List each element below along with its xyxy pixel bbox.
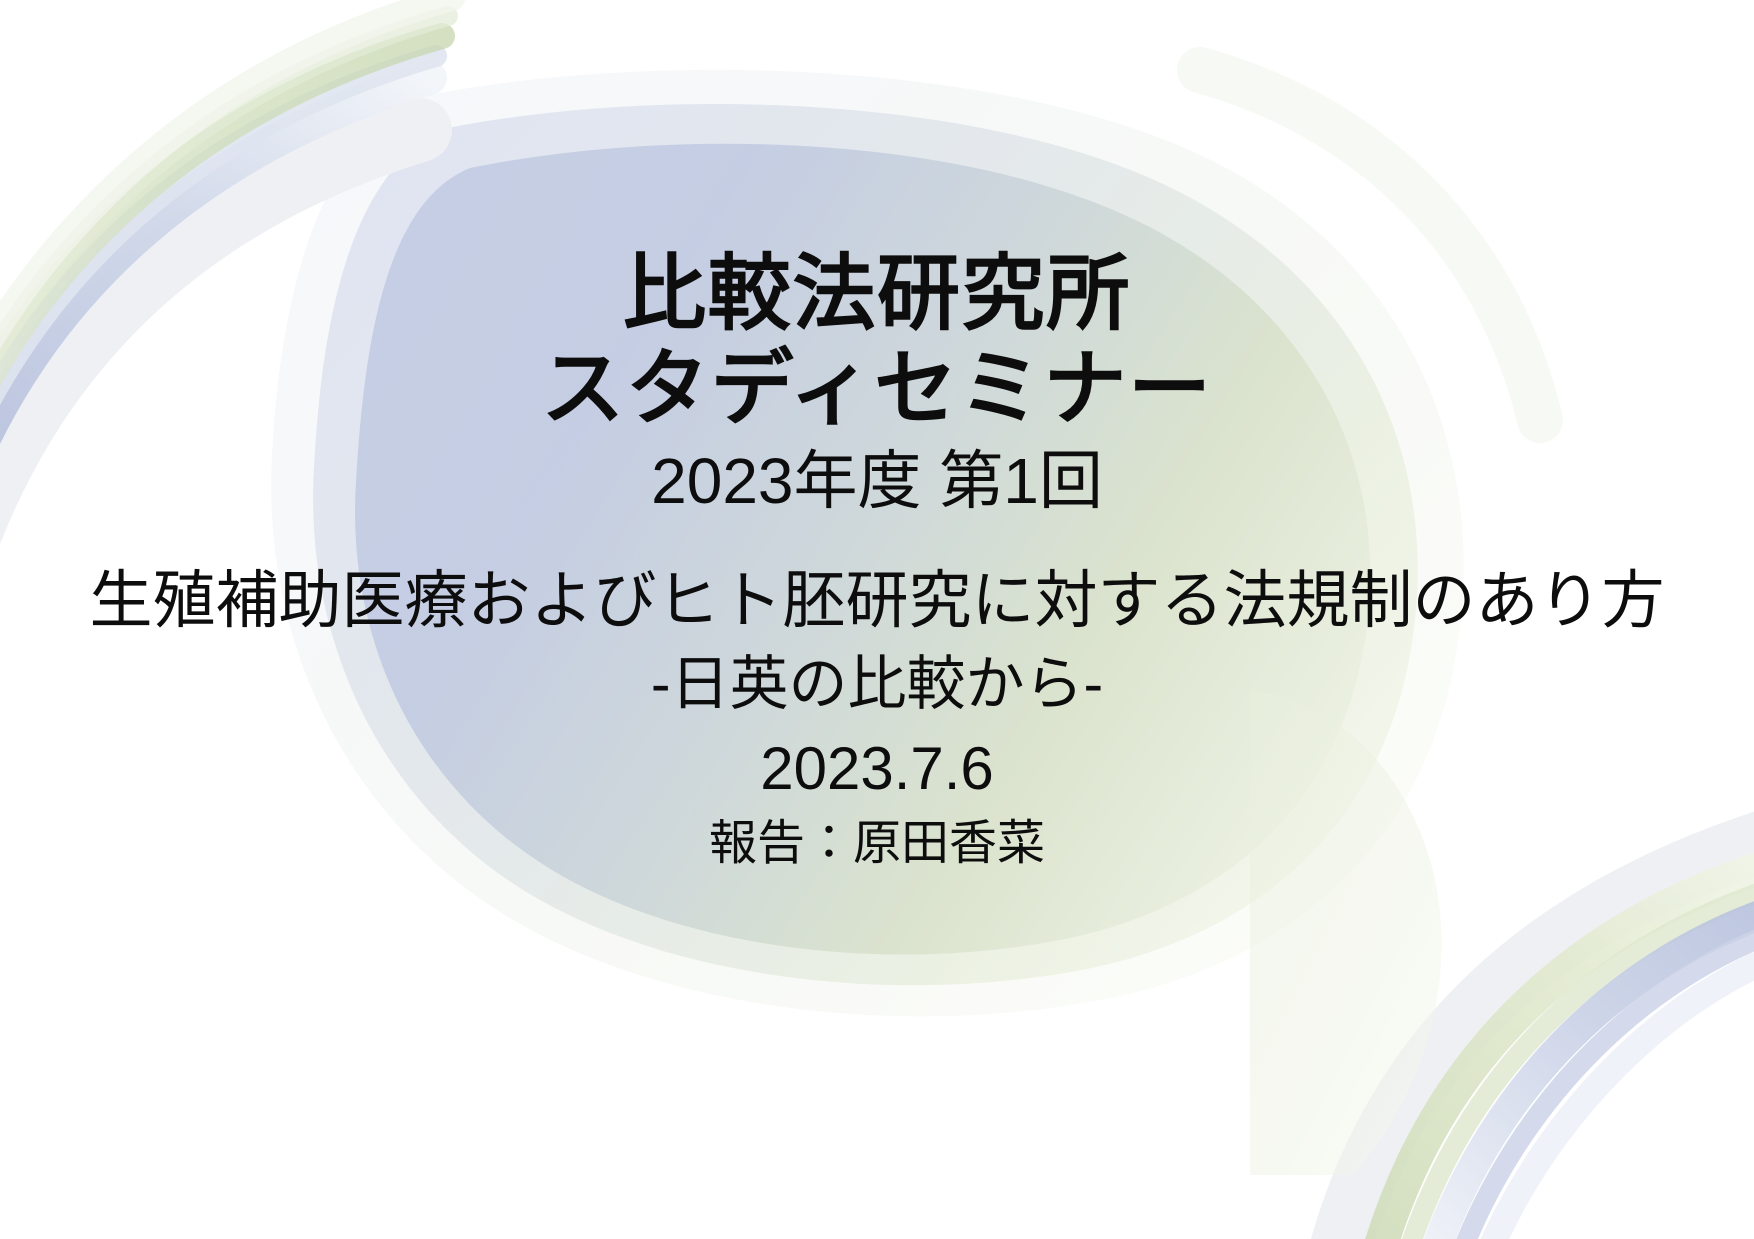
presentation-date: 2023.7.6 (760, 734, 994, 805)
subtitle-main: 生殖補助医療およびヒト胚研究に対する法規制のあり方 (90, 564, 1665, 638)
title-slide: 比較法研究所 スタディセミナー 2023年度 第1回 生殖補助医療およびヒト胚研… (0, 0, 1754, 1239)
slide-text-block: 比較法研究所 スタディセミナー 2023年度 第1回 生殖補助医療およびヒト胚研… (0, 0, 1754, 1239)
title-edition: 2023年度 第1回 (651, 444, 1103, 520)
title-line-2: スタディセミナー (541, 342, 1212, 437)
slide-frame: 比較法研究所 スタディセミナー 2023年度 第1回 生殖補助医療およびヒト胚研… (0, 0, 1754, 1239)
presenter-name: 報告：原田香菜 (709, 816, 1045, 873)
subtitle-sub: -日英の比較から- (651, 650, 1103, 720)
title-line-1: 比較法研究所 (623, 247, 1131, 342)
